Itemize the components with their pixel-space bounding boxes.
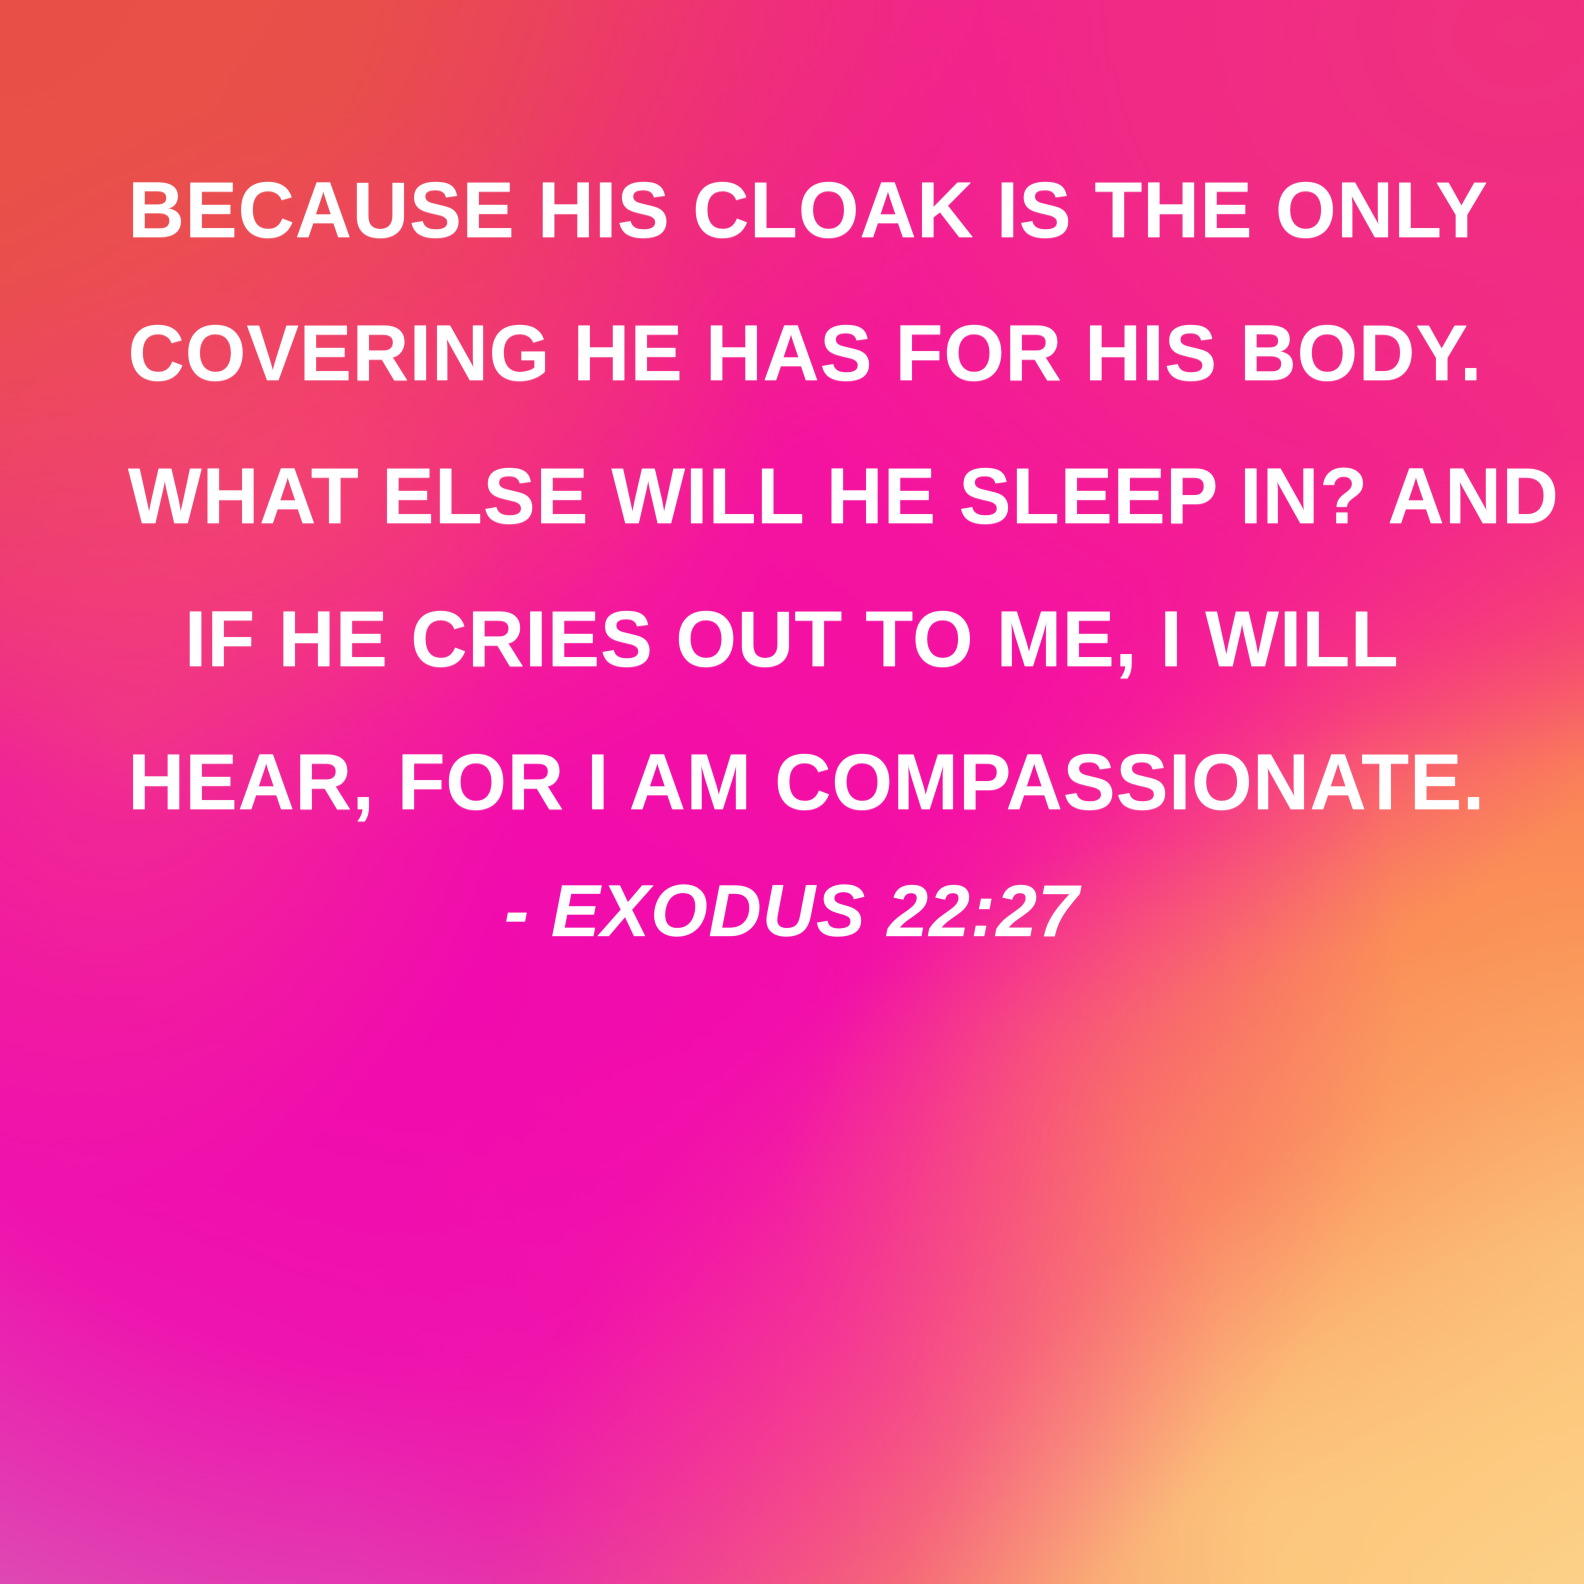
verse-line-1: Because his cloak is the only <box>128 138 1456 281</box>
verse-line-3: What else will he sleep in? And <box>128 424 1456 567</box>
verse-line-4: if he cries out to me, I will <box>128 567 1456 710</box>
verse-line-5: hear, for I am compassionate. <box>128 710 1456 853</box>
verse-attribution: - Exodus 22:27 <box>0 866 1584 958</box>
verse-line-2: covering he has for his body. <box>128 281 1456 424</box>
verse-text-block: Because his cloak is the only covering h… <box>0 138 1584 853</box>
verse-image-canvas: Because his cloak is the only covering h… <box>0 0 1584 1584</box>
